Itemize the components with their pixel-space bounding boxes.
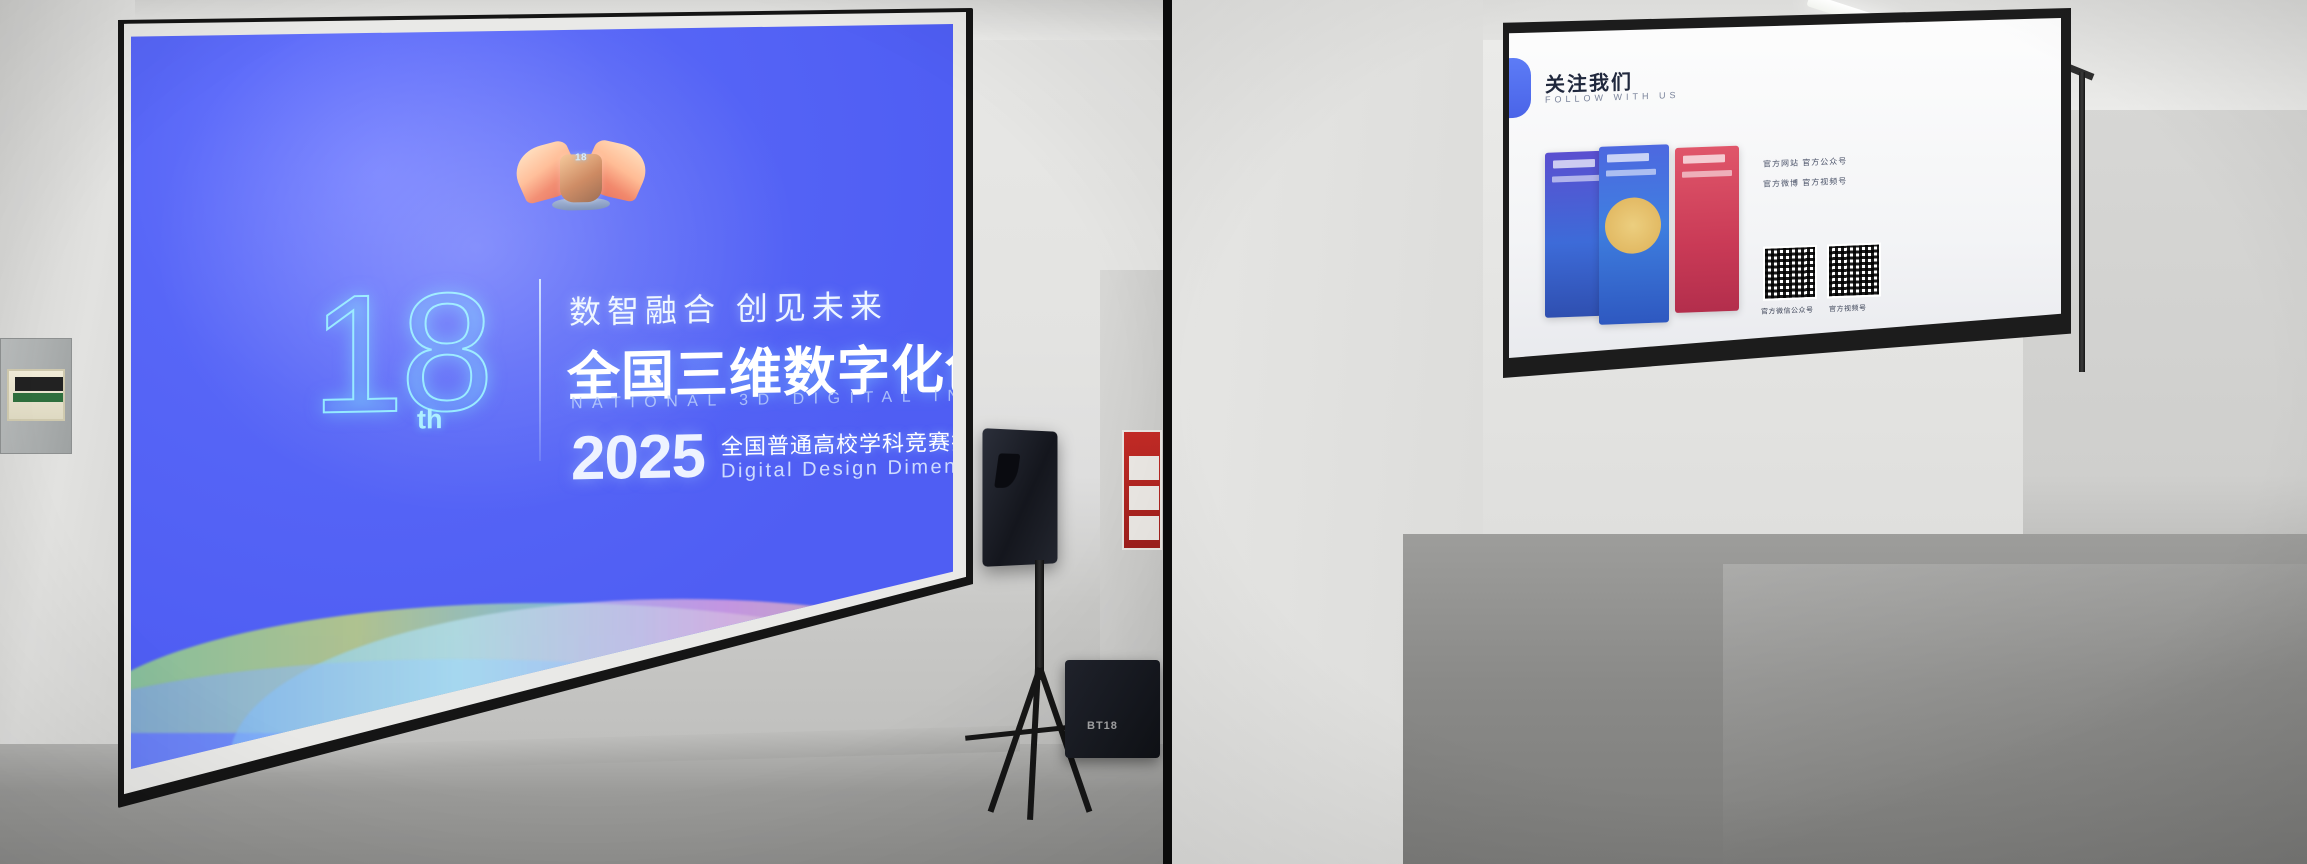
slide-accent-tab bbox=[1509, 57, 1531, 118]
qr-code-video-channel bbox=[1827, 242, 1881, 298]
card-title-line bbox=[1682, 170, 1732, 178]
tripod-pole bbox=[1035, 560, 1044, 680]
poster-card-red bbox=[1675, 146, 1739, 313]
poster-card-blue bbox=[1599, 144, 1669, 325]
edition-number: 18 bbox=[311, 261, 491, 465]
screen-side-rod bbox=[2079, 72, 2085, 372]
poster-cell bbox=[1129, 486, 1159, 510]
card-badge bbox=[1683, 154, 1725, 164]
floor-reflection bbox=[1723, 564, 2307, 864]
winged-eagle-emblem-icon: 18 bbox=[516, 137, 646, 218]
red-safety-poster bbox=[1122, 430, 1162, 550]
card-title-line bbox=[1552, 175, 1602, 183]
pull-down-projection-screen: 关注我们 FOLLOW WITH US 官方网站 官方公众号 官方微博 官方视频… bbox=[1509, 18, 2061, 358]
panel-divider bbox=[1163, 0, 1172, 864]
card-badge bbox=[1553, 159, 1595, 169]
card-badge bbox=[1607, 153, 1649, 163]
slide-content: 18 18 th 数智融合 创见未来 全国三维数字化创新设计大赛 NATIONA… bbox=[131, 24, 953, 769]
poster-cell bbox=[1129, 516, 1159, 540]
left-photo: 18 18 th 数智融合 创见未来 全国三维数字化创新设计大赛 NATIONA… bbox=[0, 0, 1163, 864]
edition-suffix: th bbox=[417, 404, 442, 436]
speaker-port bbox=[994, 453, 1020, 488]
slide-tagline: 数智融合 创见未来 bbox=[569, 281, 888, 333]
subwoofer-brand-label: BT18 bbox=[1087, 720, 1118, 732]
eagle-badge-text: 18 bbox=[562, 152, 600, 169]
qr-caption: 官方视频号 bbox=[1829, 303, 1867, 314]
slide-body-line: 官方微博 官方视频号 bbox=[1763, 176, 1847, 190]
panel-inner-face bbox=[7, 369, 65, 421]
qr-code-official-account bbox=[1763, 245, 1817, 301]
poster-cell bbox=[1129, 456, 1159, 480]
panel-terminal-strip bbox=[13, 393, 63, 402]
title-divider bbox=[539, 279, 541, 461]
pa-speaker-on-tripod bbox=[982, 428, 1057, 567]
slide-body-line: 官方网站 官方公众号 bbox=[1763, 156, 1847, 170]
slide-side-note-en: Digital Design Dimensions bbox=[721, 454, 953, 483]
electrical-distribution-panel bbox=[0, 338, 72, 454]
qr-caption: 官方微信公众号 bbox=[1761, 305, 1814, 317]
card-illustration bbox=[1605, 197, 1661, 255]
card-title-line bbox=[1606, 169, 1656, 177]
panel-breaker-row bbox=[15, 377, 63, 391]
slide-content: 关注我们 FOLLOW WITH US 官方网站 官方公众号 官方微博 官方视频… bbox=[1509, 18, 2061, 358]
subwoofer-cabinet: BT18 bbox=[1065, 660, 1160, 758]
slide-year: 2025 bbox=[571, 421, 705, 495]
photo-pair: 18 18 th 数智融合 创见未来 全国三维数字化创新设计大赛 NATIONA… bbox=[0, 0, 2307, 864]
right-photo: 关注我们 FOLLOW WITH US 官方网站 官方公众号 官方微博 官方视频… bbox=[1163, 0, 2307, 864]
pull-down-projection-screen: 18 18 th 数智融合 创见未来 全国三维数字化创新设计大赛 NATIONA… bbox=[131, 24, 953, 769]
